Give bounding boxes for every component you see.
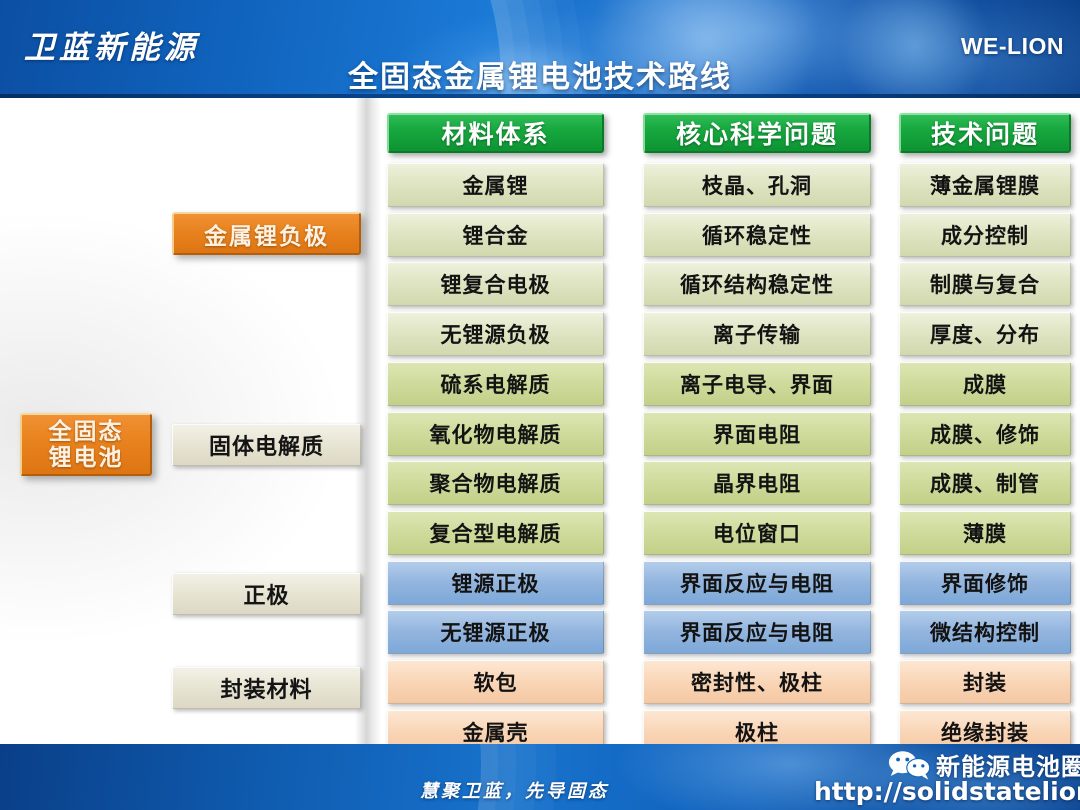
cell-material-row-9: 锂源正极 <box>387 561 604 605</box>
column-header-science: 核心科学问题 <box>643 113 871 153</box>
cell-science-row-6: 界面电阻 <box>643 412 871 456</box>
cell-technology-row-2: 成分控制 <box>899 213 1071 257</box>
wechat-icon <box>888 750 932 780</box>
cell-technology-row-7: 成膜、制管 <box>899 461 1071 505</box>
group-label-lithium-metal-anode: 金属锂负极 <box>172 212 361 255</box>
cell-material-row-10: 无锂源正极 <box>387 610 604 654</box>
root-node-line1: 全固态 <box>49 419 124 445</box>
slide-header: 卫蓝新能源 WE-LION 全固态金属锂电池技术路线 <box>0 0 1080 98</box>
cell-technology-row-9: 界面修饰 <box>899 561 1071 605</box>
cell-material-row-2: 锂合金 <box>387 213 604 257</box>
cell-material-row-1: 金属锂 <box>387 163 604 207</box>
footer-arc-decoration <box>0 744 482 810</box>
slide-canvas: 卫蓝新能源 WE-LION 全固态金属锂电池技术路线 材料体系 核心科学问题 技… <box>0 0 1080 810</box>
cell-material-row-11: 软包 <box>387 660 604 704</box>
root-node-line2: 锂电池 <box>49 445 124 471</box>
footer-slogan: 慧聚卫蓝，先导固态 <box>420 777 609 803</box>
column-header-technology: 技术问题 <box>899 113 1071 153</box>
group-label-packaging-material: 封装材料 <box>172 667 361 709</box>
root-node-all-solid-state-battery: 全固态 锂电池 <box>20 413 152 476</box>
cell-science-row-1: 枝晶、孔洞 <box>643 163 871 207</box>
cell-science-row-8: 电位窗口 <box>643 511 871 555</box>
cell-science-row-2: 循环稳定性 <box>643 213 871 257</box>
column-header-materials: 材料体系 <box>387 113 604 153</box>
cell-technology-row-1: 薄金属锂膜 <box>899 163 1071 207</box>
cell-material-row-6: 氧化物电解质 <box>387 412 604 456</box>
cell-material-row-8: 复合型电解质 <box>387 511 604 555</box>
cell-material-row-7: 聚合物电解质 <box>387 461 604 505</box>
cell-science-row-10: 界面反应与电阻 <box>643 610 871 654</box>
cell-science-row-3: 循环结构稳定性 <box>643 262 871 306</box>
cell-science-row-11: 密封性、极柱 <box>643 660 871 704</box>
cell-technology-row-6: 成膜、修饰 <box>899 412 1071 456</box>
cell-science-row-9: 界面反应与电阻 <box>643 561 871 605</box>
cell-technology-row-8: 薄膜 <box>899 511 1071 555</box>
cell-material-row-5: 硫系电解质 <box>387 362 604 406</box>
footer-wechat-block: 新能源电池圈 http://solidstatelion.com <box>768 748 1068 806</box>
cell-science-row-7: 晶界电阻 <box>643 461 871 505</box>
cell-technology-row-3: 制膜与复合 <box>899 262 1071 306</box>
vertical-divider-strip <box>355 98 381 744</box>
cell-science-row-5: 离子电导、界面 <box>643 362 871 406</box>
cell-science-row-4: 离子传输 <box>643 312 871 356</box>
cell-material-row-4: 无锂源负极 <box>387 312 604 356</box>
cell-technology-row-5: 成膜 <box>899 362 1071 406</box>
cell-technology-row-4: 厚度、分布 <box>899 312 1071 356</box>
cell-technology-row-10: 微结构控制 <box>899 610 1071 654</box>
cell-technology-row-11: 封装 <box>899 660 1071 704</box>
website-url[interactable]: http://solidstatelion.com <box>814 777 1080 806</box>
group-label-solid-electrolyte: 固体电解质 <box>172 424 361 466</box>
page-title: 全固态金属锂电池技术路线 <box>0 52 1080 96</box>
cell-material-row-3: 锂复合电极 <box>387 262 604 306</box>
group-label-cathode: 正极 <box>172 573 361 615</box>
